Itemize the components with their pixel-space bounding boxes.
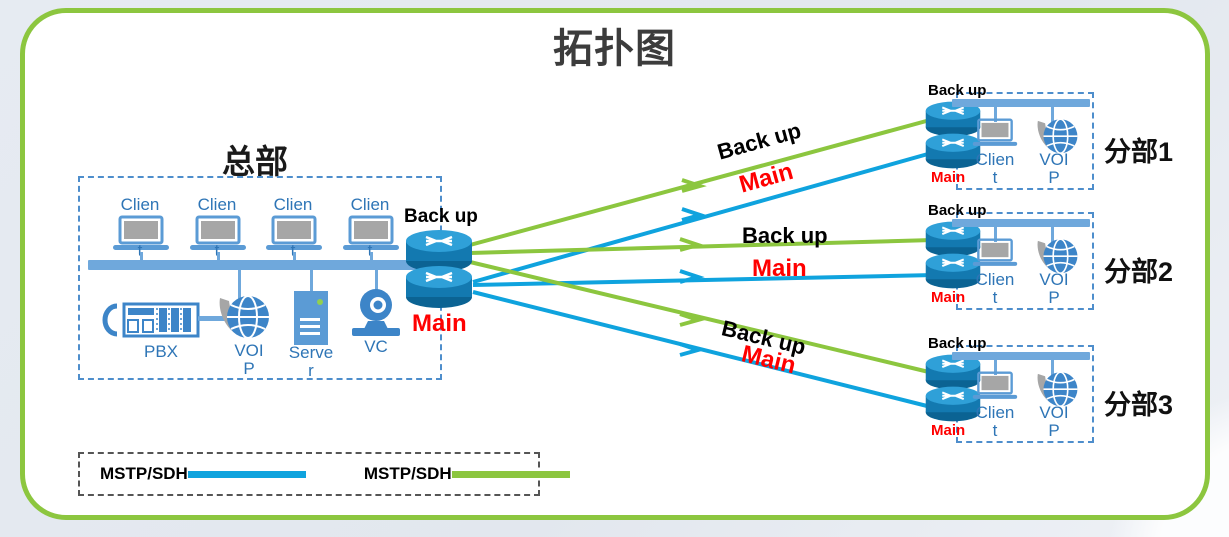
hq-vc-label: VC (352, 338, 400, 355)
branch-1-router-backup-label: Back up (928, 82, 986, 99)
hq-client-2-stub (217, 252, 220, 264)
branch-3-router-main-label: Main (931, 422, 965, 439)
pbx-icon (104, 298, 202, 344)
branch-3-client-label2: t (969, 422, 1021, 439)
branch-1-router-main-label: Main (931, 169, 965, 186)
link-main-branch1 (473, 152, 935, 282)
hq-router-backup-label: Back up (404, 206, 478, 228)
branch-2-voip-label: VOI (1031, 271, 1077, 288)
hq-client-1-label: Clien (110, 196, 170, 213)
hq-router-main[interactable] (404, 264, 474, 310)
link-backup-branch2 (470, 240, 933, 253)
branch-3-client: Clien t (972, 371, 1018, 403)
branch-3-client-label: Clien (969, 404, 1021, 421)
hq-server: Serve r (292, 290, 330, 346)
branch-1-voip-label2: P (1031, 169, 1077, 186)
laptop-icon (972, 238, 1018, 270)
hq-pbx: PBX (104, 298, 202, 344)
branch-2-title: 分部2 (1104, 250, 1173, 289)
branch-1-voip-label: VOI (1031, 151, 1077, 168)
server-icon (292, 290, 330, 346)
hq-client-4: Clien t (342, 216, 400, 254)
branch-3-voip-label2: P (1031, 422, 1077, 439)
hq-client-3: Clien t (265, 216, 323, 254)
hq-client-1: Clien t (112, 216, 170, 254)
link-label-main-branch2: Main (752, 255, 807, 283)
branch-3-bus-line (952, 352, 1090, 360)
legend-label-backup: MSTP/SDH (364, 464, 452, 484)
branch-3-router-backup-label: Back up (928, 335, 986, 352)
topology-diagram: 拓扑图 Back up Main Back up Main Back up Ma… (0, 0, 1229, 537)
hq-client-4-label: Clien (340, 196, 400, 213)
legend: MSTP/SDH MSTP/SDH (78, 452, 540, 496)
branch-2-client-label: Clien (969, 271, 1021, 288)
branch-3-title: 分部3 (1104, 383, 1173, 422)
hq-client-2: Clien t (189, 216, 247, 254)
hq-client-4-stub (370, 252, 373, 264)
branch-3-voip: VOI P (1028, 369, 1080, 411)
link-label-backup-branch2: Back up (742, 223, 828, 249)
hq-client-1-stub (140, 252, 143, 264)
hq-server-label: Serve (281, 344, 341, 361)
branch-2-router-main-label: Main (931, 289, 965, 306)
branch-2-client-label2: t (969, 289, 1021, 306)
branch-1-client-label2: t (969, 169, 1021, 186)
legend-swatch-main (188, 471, 306, 478)
hq-voip: VOI P (208, 292, 272, 344)
legend-label-main: MSTP/SDH (100, 464, 188, 484)
branch-2-router-backup-label: Back up (928, 202, 986, 219)
laptop-icon (972, 371, 1018, 403)
arrow-main-branch3 (680, 344, 698, 355)
hq-client-3-label: Clien (263, 196, 323, 213)
hq-server-label2: r (281, 362, 341, 379)
hq-client-2-label: Clien (187, 196, 247, 213)
link-backup-branch1 (470, 120, 930, 245)
hq-pbx-label: PBX (126, 343, 196, 360)
branch-2-bus-line (952, 219, 1090, 227)
branch-2-voip: VOI P (1028, 236, 1080, 278)
laptop-icon (972, 118, 1018, 150)
branch-3-voip-label: VOI (1031, 404, 1077, 421)
hq-server-stub (310, 265, 313, 293)
legend-item-main: MSTP/SDH (100, 464, 306, 484)
legend-item-backup: MSTP/SDH (364, 464, 570, 484)
hq-vc: VC (348, 288, 404, 340)
hq-voip-label: VOI (221, 342, 277, 359)
hq-voip-label2: P (221, 360, 277, 377)
branch-1-client-label: Clien (969, 151, 1021, 168)
voip-globe-icon (208, 292, 272, 344)
branch-2-client: Clien t (972, 238, 1018, 270)
router-icon (404, 264, 474, 310)
branch-1-bus-line (952, 99, 1090, 107)
video-camera-icon (348, 288, 404, 340)
branch-2-voip-label2: P (1031, 289, 1077, 306)
branch-1-title: 分部1 (1104, 130, 1173, 169)
legend-swatch-backup (452, 471, 570, 478)
branch-1-voip: VOI P (1028, 116, 1080, 158)
branch-1-client: Clien t (972, 118, 1018, 150)
hq-router-main-label: Main (412, 310, 467, 338)
hq-client-3-stub (293, 252, 296, 264)
